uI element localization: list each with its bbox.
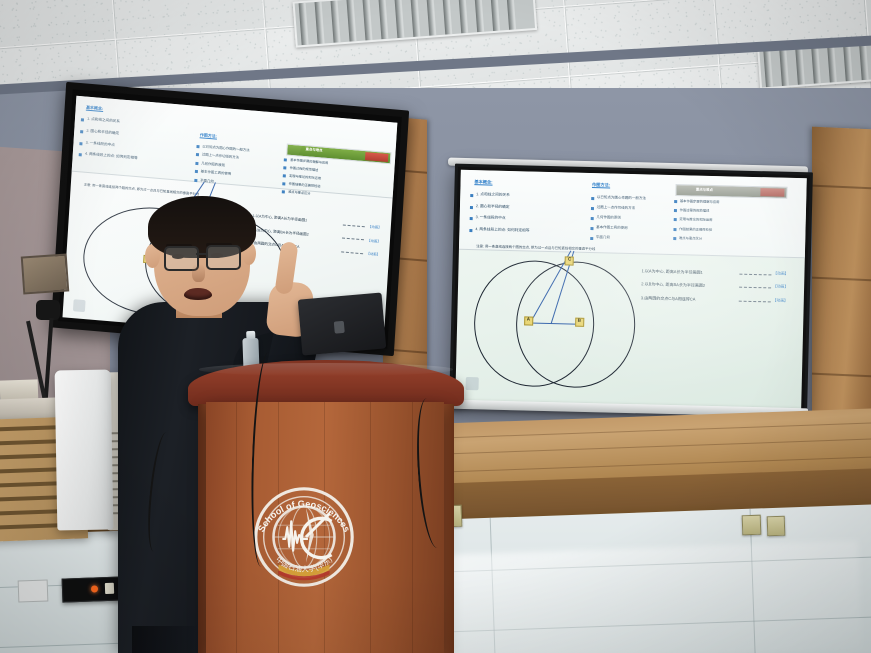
step-leader xyxy=(739,287,772,289)
camera-head-icon xyxy=(36,300,60,320)
label-card xyxy=(18,579,49,602)
step-tag: 【动画】 xyxy=(367,237,381,243)
eyeglass-bridge xyxy=(196,253,207,255)
step-text: 3.由两圆的交点C与A相连得CA xyxy=(641,295,696,302)
podium-top-surface xyxy=(188,360,464,406)
slide-col3-accent xyxy=(365,152,388,161)
step-leader xyxy=(738,300,771,302)
step-tag: 【动画】 xyxy=(368,224,382,230)
slide-col3-item: 作图过程的规范描述 xyxy=(680,207,710,213)
step-tag: 【动画】 xyxy=(773,298,788,303)
slide-col3-item: 基本作图步骤的理解与应用 xyxy=(680,198,720,204)
presenter-mouth xyxy=(184,288,212,300)
point-label-b: B xyxy=(575,318,584,327)
step-text: 2.以B为中心, 距离BA长为半径画圆2 xyxy=(641,282,705,290)
step-leader xyxy=(739,274,772,276)
slide-col2-item: 过圆上一点作切线的方法 xyxy=(597,205,636,211)
laptop-logo-icon xyxy=(333,320,344,333)
slide-footnote: 注意: 用一条直线连接两个圆的交点, 即为过一点且与已知直线相交的垂直平分线 xyxy=(84,182,200,197)
slide-col3-item: 作图结果的正确性检验 xyxy=(679,226,712,232)
slide-col3-item: 定理与推论的实际运用 xyxy=(679,216,712,222)
slide-col3-title: 重点与难点 xyxy=(305,147,322,153)
stage-floor-outlet xyxy=(767,516,786,537)
slide-content-right: 基本概念: 1. 点和线之间的关系 2. 圆心和半径的确定 3. 一条线段的中点… xyxy=(455,170,807,410)
slide-col1-item: 3. 一条线段的中点 xyxy=(476,215,506,221)
slide-col2-title: 作图方法: xyxy=(592,182,610,188)
step-tag: 【动画】 xyxy=(773,285,788,290)
laptop[interactable] xyxy=(298,292,387,355)
slide-col2-item: 几何作图的原则 xyxy=(596,215,621,221)
slide-watermark xyxy=(466,377,479,390)
presenter-nose xyxy=(192,264,205,282)
slide-steps-right: 1.以A为中心, 距离A长为半径画圆1 【动画】 2.以B为中心, 距离BA长为… xyxy=(637,267,801,331)
point-label-a: A xyxy=(524,317,533,326)
projection-screen-right[interactable]: 基本概念: 1. 点和线之间的关系 2. 圆心和半径的确定 3. 一条线段的中点… xyxy=(449,164,813,417)
step-tag: 【动画】 xyxy=(366,251,380,257)
point-label-c: C xyxy=(565,256,574,265)
eyeglass-lens xyxy=(206,245,241,270)
slide-col1-item: 1. 点和线之间的关系 xyxy=(476,192,510,198)
slide-col3-title: 重点与难点 xyxy=(696,186,713,191)
power-strip-led xyxy=(91,585,98,592)
floor-reflection xyxy=(428,541,862,653)
slide-col1-title: 基本概念: xyxy=(474,179,492,185)
step-tag: 【动画】 xyxy=(773,271,788,276)
slide-col3-item: 难点与重点区分 xyxy=(288,188,311,195)
slide-col2-item: 基本作图工具的使用 xyxy=(596,225,628,231)
stage-floor-outlet xyxy=(742,515,762,536)
lecture-room-photo: 基本概念: 1. 点和线之间的关系 2. 圆心和半径的确定 3. 一条线段的中点… xyxy=(0,0,871,653)
slide-col2-item: 平面几何 xyxy=(596,235,610,240)
slide-col1-item: 2. 圆心和半径的确定 xyxy=(476,204,510,210)
bottle-cap xyxy=(246,331,255,339)
slide-watermark xyxy=(73,299,86,312)
slide-col3-item: 难点与重点区分 xyxy=(679,235,702,241)
wall-picture-frame xyxy=(21,253,70,294)
air-purifier-unit xyxy=(55,370,114,531)
step-text: 1.以A为中心, 距离A长为半径画圆1 xyxy=(642,268,703,275)
slide-col3-accent xyxy=(760,189,785,197)
geometry-figure-right: A B C xyxy=(473,254,635,392)
